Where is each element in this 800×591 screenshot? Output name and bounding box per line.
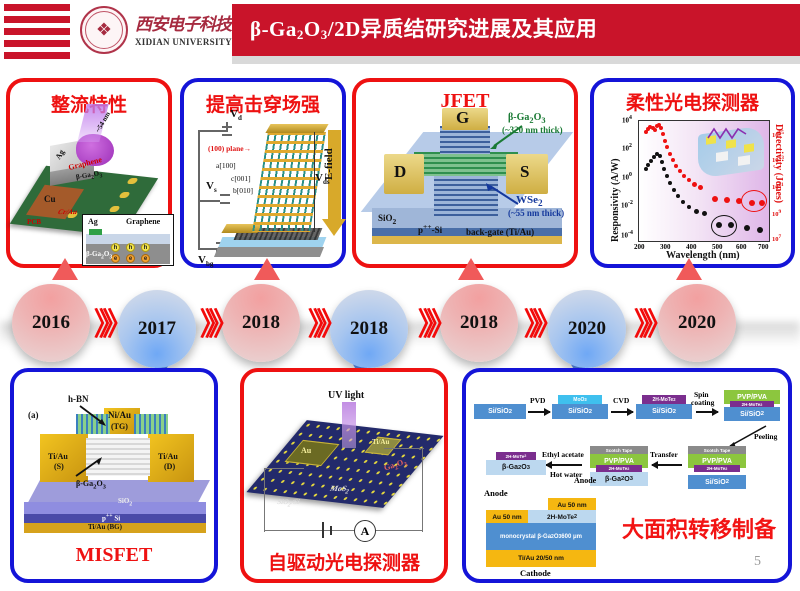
panel-title-large-area-transfer: 大面积转移制备 [622, 512, 776, 544]
device-anode-label: Anode [484, 488, 508, 498]
figure-label: β-Ga2O3 [76, 479, 106, 491]
figure-label: PCB [27, 218, 41, 226]
timeline-year: 2016 [32, 312, 70, 334]
university-wordmark: 西安电子科技大学 XIDIAN UNIVERSITY [135, 10, 235, 47]
figure-label: Ni/Au [108, 410, 131, 420]
figure-label: h-BN [68, 394, 89, 404]
figure-label: Ti/Au [158, 452, 178, 461]
chart-ylabel: Responsivity (A/W) [610, 158, 621, 242]
figure-label: (S) [54, 462, 64, 471]
timeline-chevron-icon: 》》 [634, 308, 664, 342]
timeline-pointer [52, 258, 78, 280]
figure-label: Ti/Au [372, 438, 389, 446]
timeline-item-2017[interactable]: 2017 [118, 290, 196, 368]
timeline-year: 2018 [460, 312, 498, 334]
figure-label: Graphene [126, 217, 160, 226]
timeline-pointer [254, 258, 280, 280]
process-step: Si/SiO2 [688, 475, 746, 489]
figure-label: S [520, 162, 529, 182]
process-label: Peeling [754, 432, 777, 441]
figure-label: Au [301, 446, 311, 455]
page-title: β-Ga2O3/2D异质结研究进展及其应用 [250, 13, 597, 43]
figure-label: E-field [323, 148, 335, 180]
university-name-en: XIDIAN UNIVERSITY [135, 37, 235, 47]
figure-label: Ag [88, 217, 98, 226]
figure-label: Vbg [198, 254, 213, 268]
process-label: Anode [574, 476, 596, 485]
process-arrow [611, 411, 633, 413]
process-layer: MoO3 [558, 395, 602, 404]
process-step: β-Ga2O3 [590, 472, 648, 486]
figure-label: p++ Si [102, 513, 120, 522]
timeline-chevron-icon: 》》 [200, 308, 230, 342]
process-step: Si/SiO2 [474, 404, 526, 419]
figure-label: (D) [164, 462, 175, 471]
process-step: Si/SiO2 [724, 407, 780, 421]
timeline-year: 2018 [350, 318, 388, 340]
figure-label: G [456, 108, 469, 128]
figure-label: Vs [206, 180, 217, 194]
figure-label: (TG) [111, 422, 128, 431]
timeline-chevron-icon: 》》 [94, 308, 124, 342]
device-layer: monocrystal β-Ga2O3 600 μm [486, 523, 596, 551]
process-label: PVD [530, 396, 545, 405]
process-arrow [546, 464, 582, 466]
timeline-chevron-icon: 》》 [524, 308, 554, 342]
panel-breakdown-field[interactable]: 提高击穿场强 [180, 78, 346, 268]
process-arrow [696, 411, 718, 413]
timeline: 2016 2017 2018 2018 2018 2020 2020 》》 》》… [0, 268, 800, 368]
figure-label: UV light [328, 390, 364, 401]
process-step: Si/SiO2 [636, 404, 692, 419]
ammeter-icon: A [354, 520, 376, 542]
timeline-chevron-icon: 》》 [308, 308, 338, 342]
timeline-item-2020-b[interactable]: 2020 [658, 284, 736, 362]
panel-title-self-powered-photodetector: 自驱动光电探测器 [244, 548, 444, 575]
process-label: Ethyl acetate [542, 450, 584, 459]
device-cathode-label: Cathode [520, 568, 551, 578]
timeline-item-2016[interactable]: 2016 [12, 284, 90, 362]
timeline-year: 2020 [568, 318, 606, 340]
figure-label: Ti/Au (BG) [88, 523, 122, 531]
figure-label: SiO2 [118, 497, 132, 507]
figure-label: SiO2 [378, 213, 396, 226]
timeline-pointer [458, 258, 484, 280]
process-layer: 2H-MoTe2 [642, 395, 686, 404]
figure-label: (~320 nm thick) [502, 125, 563, 135]
page-number: 5 [754, 554, 761, 570]
figure-label: D [394, 162, 406, 182]
panel-self-powered-photodetector[interactable]: A UV light Au Ti/Au Ga2O3 MoS2 SiO2/Si 自… [240, 368, 448, 583]
figure-label: (~55 nm thick) [508, 208, 564, 218]
panel-flexible-photodetector[interactable]: 柔性光电探测器 Responsivity (A/W) Detectivity (… [590, 78, 795, 268]
timeline-year: 2017 [138, 318, 176, 340]
timeline-year: 2020 [678, 312, 716, 334]
figure-label: c[001] [231, 174, 251, 183]
timeline-item-2018-c[interactable]: 2018 [440, 284, 518, 362]
panel-misfet[interactable]: (a) h-BN Ni/Au (TG) Ti/Au (S) Ti/Au (D) … [10, 368, 218, 583]
figure-label: p++-Si [418, 222, 442, 235]
device-layer: Au 50 nm [486, 510, 528, 524]
timeline-item-2020-a[interactable]: 2020 [548, 290, 626, 368]
process-step: Si/SiO2 [552, 404, 608, 419]
figure-label: back-gate (Ti/Au) [466, 227, 534, 237]
university-seal-icon: ❖ [80, 6, 128, 54]
device-layer: Ti/Au 20/50 nm [486, 550, 596, 567]
process-label: coating [691, 398, 714, 407]
figure-label: Vd [230, 108, 242, 122]
timeline-item-2018-a[interactable]: 2018 [222, 284, 300, 362]
figure-breakdown-field: Vd Vs Vbg Vds E-field (100) plane→ a[100… [184, 82, 342, 264]
header-underbar [232, 56, 800, 64]
figure-label: Cr/Au [56, 208, 79, 216]
timeline-item-2018-b[interactable]: 2018 [330, 290, 408, 368]
timeline-chevron-icon: 》》 [418, 308, 448, 342]
figure-label: b[010] [233, 186, 253, 195]
figure-flexible-photodetector: Responsivity (A/W) Detectivity (Jones) W… [594, 82, 791, 264]
panel-jfet[interactable]: JFET G D S β-Ga2O [352, 78, 578, 268]
figure-process-flow: Si/SiO2 PVD MoO3 Si/SiO2 CVD 2H-MoTe2 Si… [466, 372, 788, 579]
process-label: Transfer [650, 450, 678, 459]
figure-label: Ti/Au [48, 452, 68, 461]
figure-rectifying: h h h e e e Ag Cu Cr/Au PCB Graphene β-G… [10, 82, 168, 264]
timeline-pointer [676, 258, 702, 280]
header-stripe-group [0, 4, 70, 60]
figure-label: β-Ga2O3 [86, 250, 112, 260]
process-label: CVD [613, 396, 629, 405]
figure-label: β-Ga2O3 [508, 112, 546, 125]
process-arrow [652, 464, 682, 466]
process-layer: 2H-MoTe2 [596, 465, 642, 472]
figure-label: (a) [28, 410, 39, 420]
figure-label: a[100] [216, 161, 236, 170]
process-layer: 2H-MoTe2 [694, 465, 740, 472]
panel-rectifying[interactable]: 整流特性 h h h e e e [6, 78, 172, 268]
figure-label: (100) plane→ [208, 144, 251, 153]
figure-label: Cu [44, 194, 56, 204]
slide-header: ❖ 西安电子科技大学 XIDIAN UNIVERSITY β-Ga2O3/2D异… [0, 0, 800, 62]
timeline-year: 2018 [242, 312, 280, 334]
figure-label: SiO2/Si [275, 498, 301, 508]
device-layer: 2H-MoTe2 [528, 510, 596, 524]
process-arrow [528, 411, 550, 413]
university-name-cn: 西安电子科技大学 [135, 10, 235, 35]
process-layer: 2H-MoTe2 [496, 452, 536, 460]
panel-title-misfet: MISFET [14, 544, 214, 567]
panel-large-area-transfer[interactable]: Si/SiO2 PVD MoO3 Si/SiO2 CVD 2H-MoTe2 Si… [462, 368, 792, 583]
figure-label: WSe2 [516, 194, 543, 208]
process-step: β-Ga2O3 [486, 460, 546, 475]
figure-jfet: G D S β-Ga2O3 (~320 nm thick) WSe2 (~55 … [356, 82, 574, 264]
